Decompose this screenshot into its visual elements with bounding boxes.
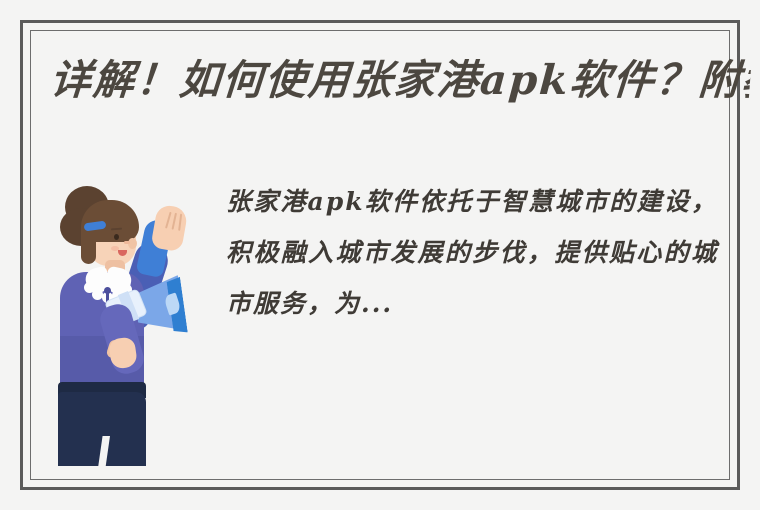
article-excerpt: 张家港apk软件依托于智慧城市的建设，积极融入城市发展的步伐，提供贴心的城市服务…	[226, 176, 718, 329]
article-title: 详解！如何使用张家港apk软件？附教程	[48, 52, 752, 112]
trouser-leg-left	[60, 432, 100, 466]
article-card: 详解！如何使用张家港apk软件？附教程	[0, 0, 760, 510]
nose	[124, 241, 130, 244]
eye	[114, 234, 119, 240]
woman-with-megaphone-illustration	[48, 186, 198, 466]
waving-hand	[150, 204, 188, 253]
finger-line	[165, 212, 171, 229]
finger-line	[178, 214, 182, 231]
trouser-leg-right	[108, 432, 146, 466]
finger-line	[172, 213, 177, 230]
